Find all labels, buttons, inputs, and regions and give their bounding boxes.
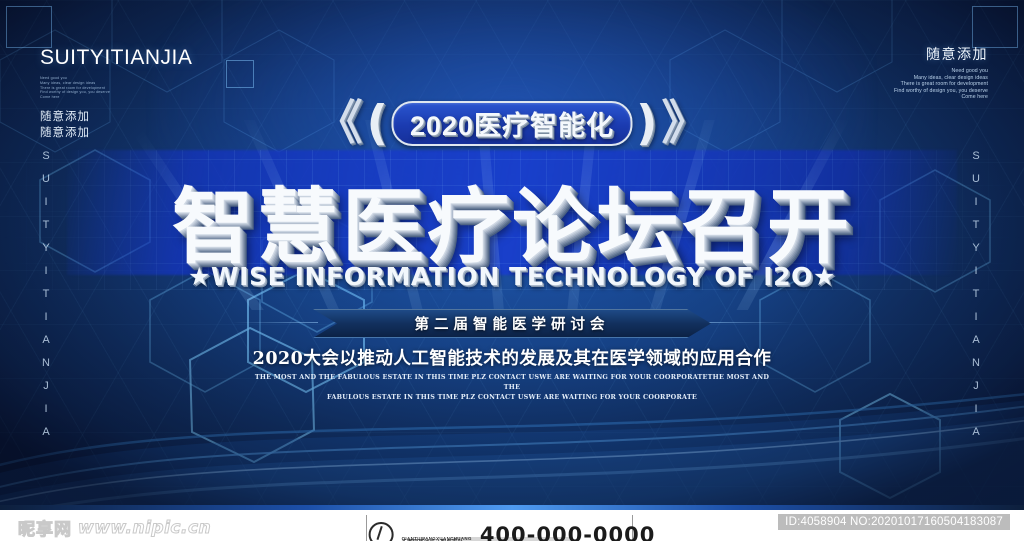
right-en-line: Need good you [894,68,988,75]
hotline-number: 400-000-0000 [480,523,656,541]
right-en-line: Many ideas, clear design ideas [894,75,988,82]
asset-id-tag: ID:4058904 NO:20201017160504183087 [778,514,1010,530]
event-ribbon-label: 第二届智能医学研讨会 [415,313,610,334]
chevron-right-outer-icon: 》 [662,100,709,147]
right-en-line: There is great room for development [894,81,988,88]
poster-canvas: SUITYITIANJIA SUITYITIANJIA SUITYITIANJI… [0,0,1024,541]
micro-line: Come here [40,95,192,100]
ribbon-line-right [706,322,792,323]
corner-box-top-right [972,6,1018,48]
bottom-watermark-bar: 昵享网 www.nipic.cn QIANTUWANGYUANCHUANG 千图… [0,505,1024,541]
side-text-right: SUITYITIANJIA [970,150,982,449]
right-en-text: Need good you Many ideas, clear design i… [894,68,988,101]
top-right-block: 随意添加 Need good you Many ideas, clear des… [894,44,988,101]
watermark-url-text[interactable]: www.nipic.cn [78,518,211,538]
paren-left-icon: ( [366,100,387,147]
right-en-line: Come here [894,94,988,101]
accent-square [226,60,254,88]
tagline-english: THE MOST AND THE FABULOUS ESTATE IN THIS… [247,372,777,402]
bottom-logo-group: QIANTUWANGYUANCHUANG 千图网原创设计服务平台 400-000… [369,522,656,541]
top-left-block: SUITYITIANJIA Need good you Many ideas, … [40,46,192,141]
theme-tag-row: 《 ( 2020医疗智能化 ) 》 [315,100,708,147]
bottom-stripe [0,505,1024,510]
cn-add-line: 随意添加 [40,109,192,125]
theme-tag-label: 2020医疗智能化 [410,104,614,143]
left-cn-placeholder-text: 随意添加 随意添加 [40,109,192,141]
corner-box-top-left [6,6,52,48]
watermark: 昵享网 www.nipic.cn [18,515,211,540]
english-subtitle: ★WISE INFORMATION TECHNOLOGY OF I2O★ [188,262,836,291]
bottom-divider-left [366,515,367,541]
brand-name: SUITYITIANJIA [40,46,192,70]
theme-tag-pill: 2020医疗智能化 [392,101,632,146]
company-logo-icon [369,522,394,541]
cn-add-line: 随意添加 [40,125,192,141]
brand-micro-text: Need good you Many ideas, clear design i… [40,76,192,100]
event-ribbon: 第二届智能医学研讨会 [313,309,711,338]
right-en-line: Find worthy of design you, you deserve [894,88,988,95]
tagline-en-line-1: THE MOST AND THE FABULOUS ESTATE IN THIS… [247,372,777,392]
right-cn-placeholder-text: 随意添加 [894,44,988,64]
side-text-left: SUITYITIANJIA [40,150,52,449]
paren-right-icon: ) [636,100,657,147]
tagline-chinese: 2020大会以推动人工智能技术的发展及其在医学领域的应用合作 [253,345,772,370]
watermark-cn-text: 昵享网 [18,515,72,540]
company-logo-text: QIANTUWANGYUANCHUANG 千图网原创设计服务平台 [402,537,472,541]
chevron-left-outer-icon: 《 [315,100,362,147]
tagline-en-line-2: FABULOUS ESTATE IN THIS TIME PLZ CONTACT… [247,392,777,402]
ribbon-line-left [232,322,318,323]
